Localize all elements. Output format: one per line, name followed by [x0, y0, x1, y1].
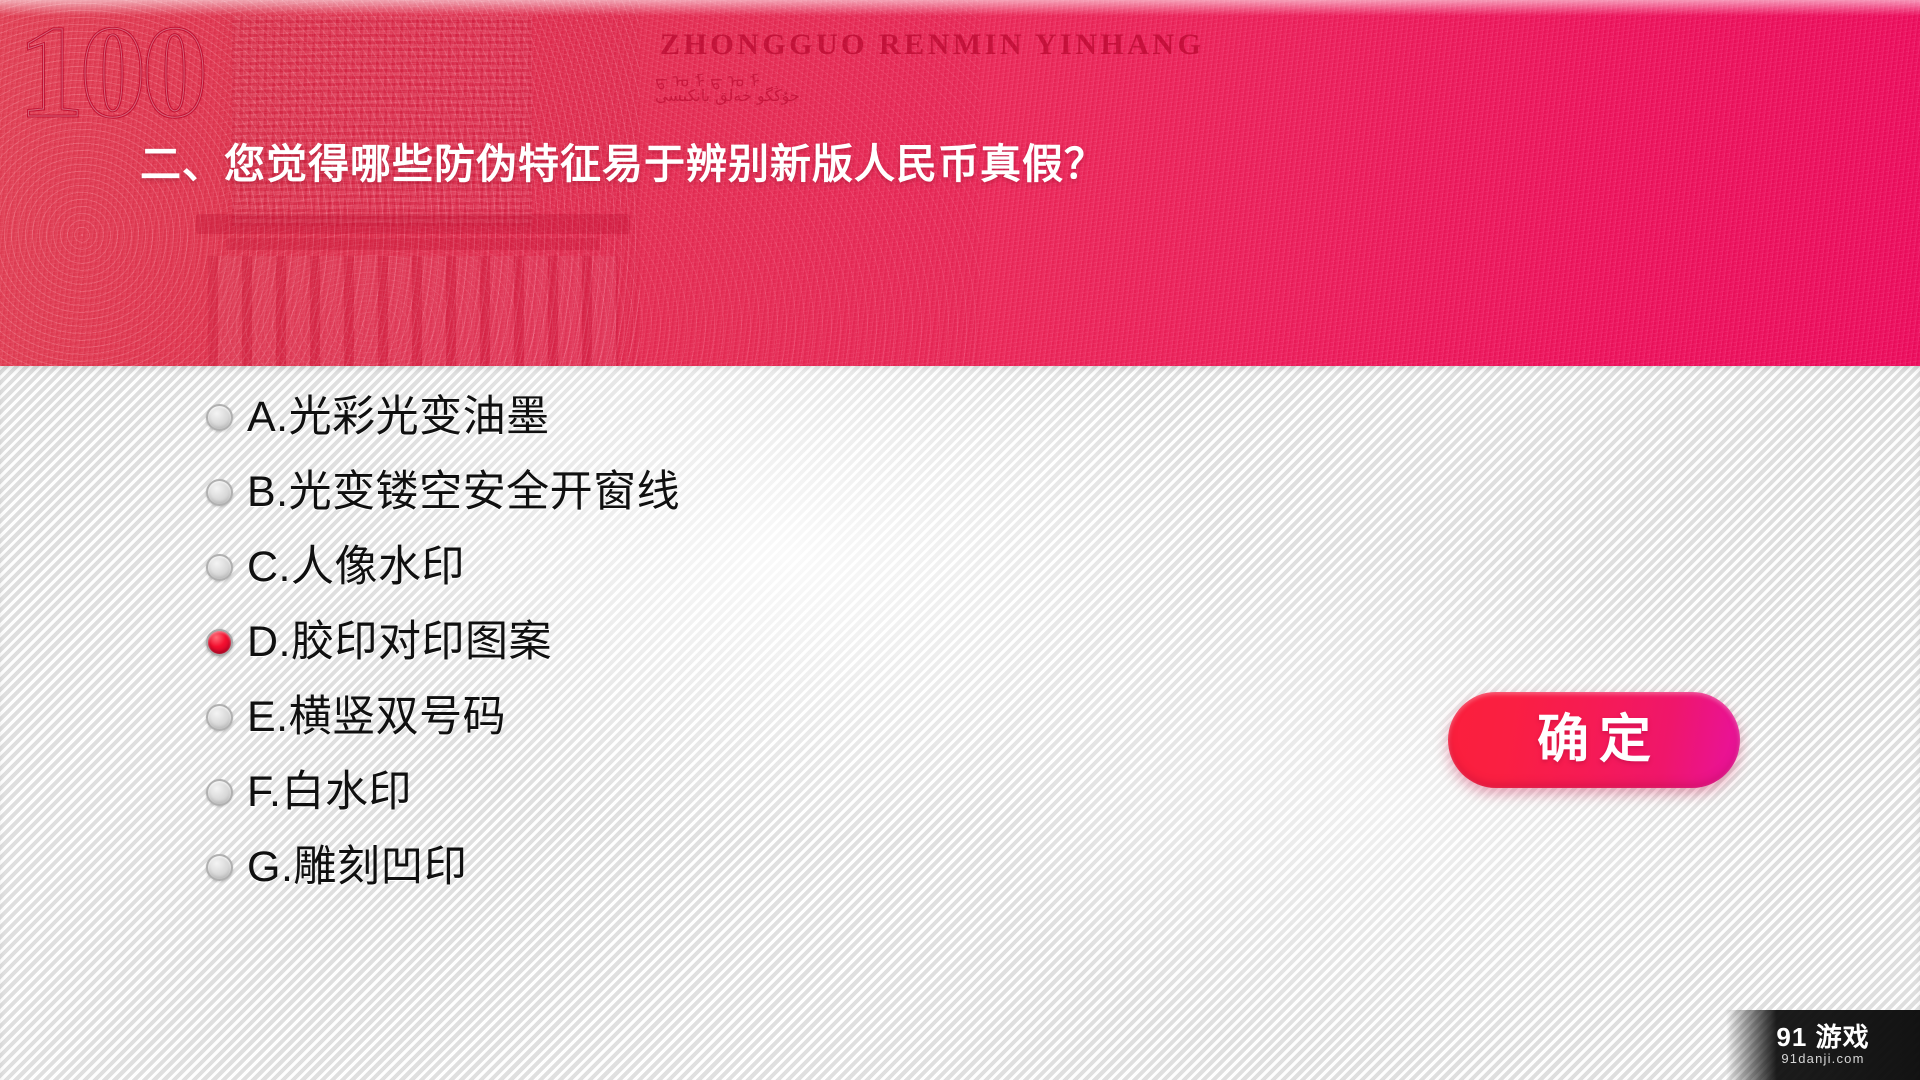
option-label-e: E.横竖双号码 [247, 696, 506, 739]
option-row-g[interactable]: G.雕刻凹印 [206, 830, 1106, 905]
option-row-a[interactable]: A.光彩光变油墨 [206, 380, 1106, 455]
tiananmen-engraving-icon [178, 214, 648, 366]
option-label-g: G.雕刻凹印 [247, 846, 467, 889]
option-label-f: F.白水印 [247, 771, 412, 814]
option-list: A.光彩光变油墨 B.光变镂空安全开窗线 C.人像水印 D.胶印对印图案 E.横… [206, 380, 1106, 905]
question-title: 二、您觉得哪些防伪特征易于辨别新版人民币真假？ [140, 140, 1106, 189]
option-label-d: D.胶印对印图案 [247, 621, 552, 664]
option-label-a: A.光彩光变油墨 [247, 396, 550, 439]
gate-roof [196, 214, 630, 234]
radio-icon-g[interactable] [206, 854, 233, 881]
radio-icon-e[interactable] [206, 704, 233, 731]
option-label-c: C.人像水印 [247, 546, 465, 589]
radio-icon-f[interactable] [206, 779, 233, 806]
option-row-f[interactable]: F.白水印 [206, 755, 1106, 830]
option-row-e[interactable]: E.横竖双号码 [206, 680, 1106, 755]
bank-name-latin: ZHONGGUO RENMIN YINHANG [660, 28, 1204, 62]
bank-name-uyghur: جۇڭگو خەلق بانكىسى [655, 86, 800, 105]
radio-icon-b[interactable] [206, 479, 233, 506]
gate-roof-second [226, 238, 600, 250]
gate-body [208, 256, 618, 366]
micro-pattern-block [232, 16, 532, 226]
option-label-b: B.光变镂空安全开窗线 [247, 471, 680, 514]
denomination-100-highlight: 100 [18, 6, 204, 138]
radio-icon-a[interactable] [206, 404, 233, 431]
banknote-banner: 100 100 ZHONGGUO RENMIN YINHANG ᠳ ᠤ ᠮ ᠳ … [0, 0, 1920, 366]
option-row-b[interactable]: B.光变镂空安全开窗线 [206, 455, 1106, 530]
confirm-button[interactable]: 确定 [1448, 692, 1740, 788]
radio-icon-c[interactable] [206, 554, 233, 581]
bank-name-mongolian: ᠳ ᠤ ᠮ ᠳ ᠤ ᠮ [655, 62, 760, 92]
option-row-d[interactable]: D.胶印对印图案 [206, 605, 1106, 680]
radio-icon-d[interactable] [206, 629, 233, 656]
option-row-c[interactable]: C.人像水印 [206, 530, 1106, 605]
quiz-screen: 100 100 ZHONGGUO RENMIN YINHANG ᠳ ᠤ ᠮ ᠳ … [0, 0, 1920, 1080]
answer-panel: A.光彩光变油墨 B.光变镂空安全开窗线 C.人像水印 D.胶印对印图案 E.横… [0, 366, 1920, 1080]
banner-top-highlight [0, 0, 1920, 16]
denomination-100: 100 [18, 6, 204, 138]
